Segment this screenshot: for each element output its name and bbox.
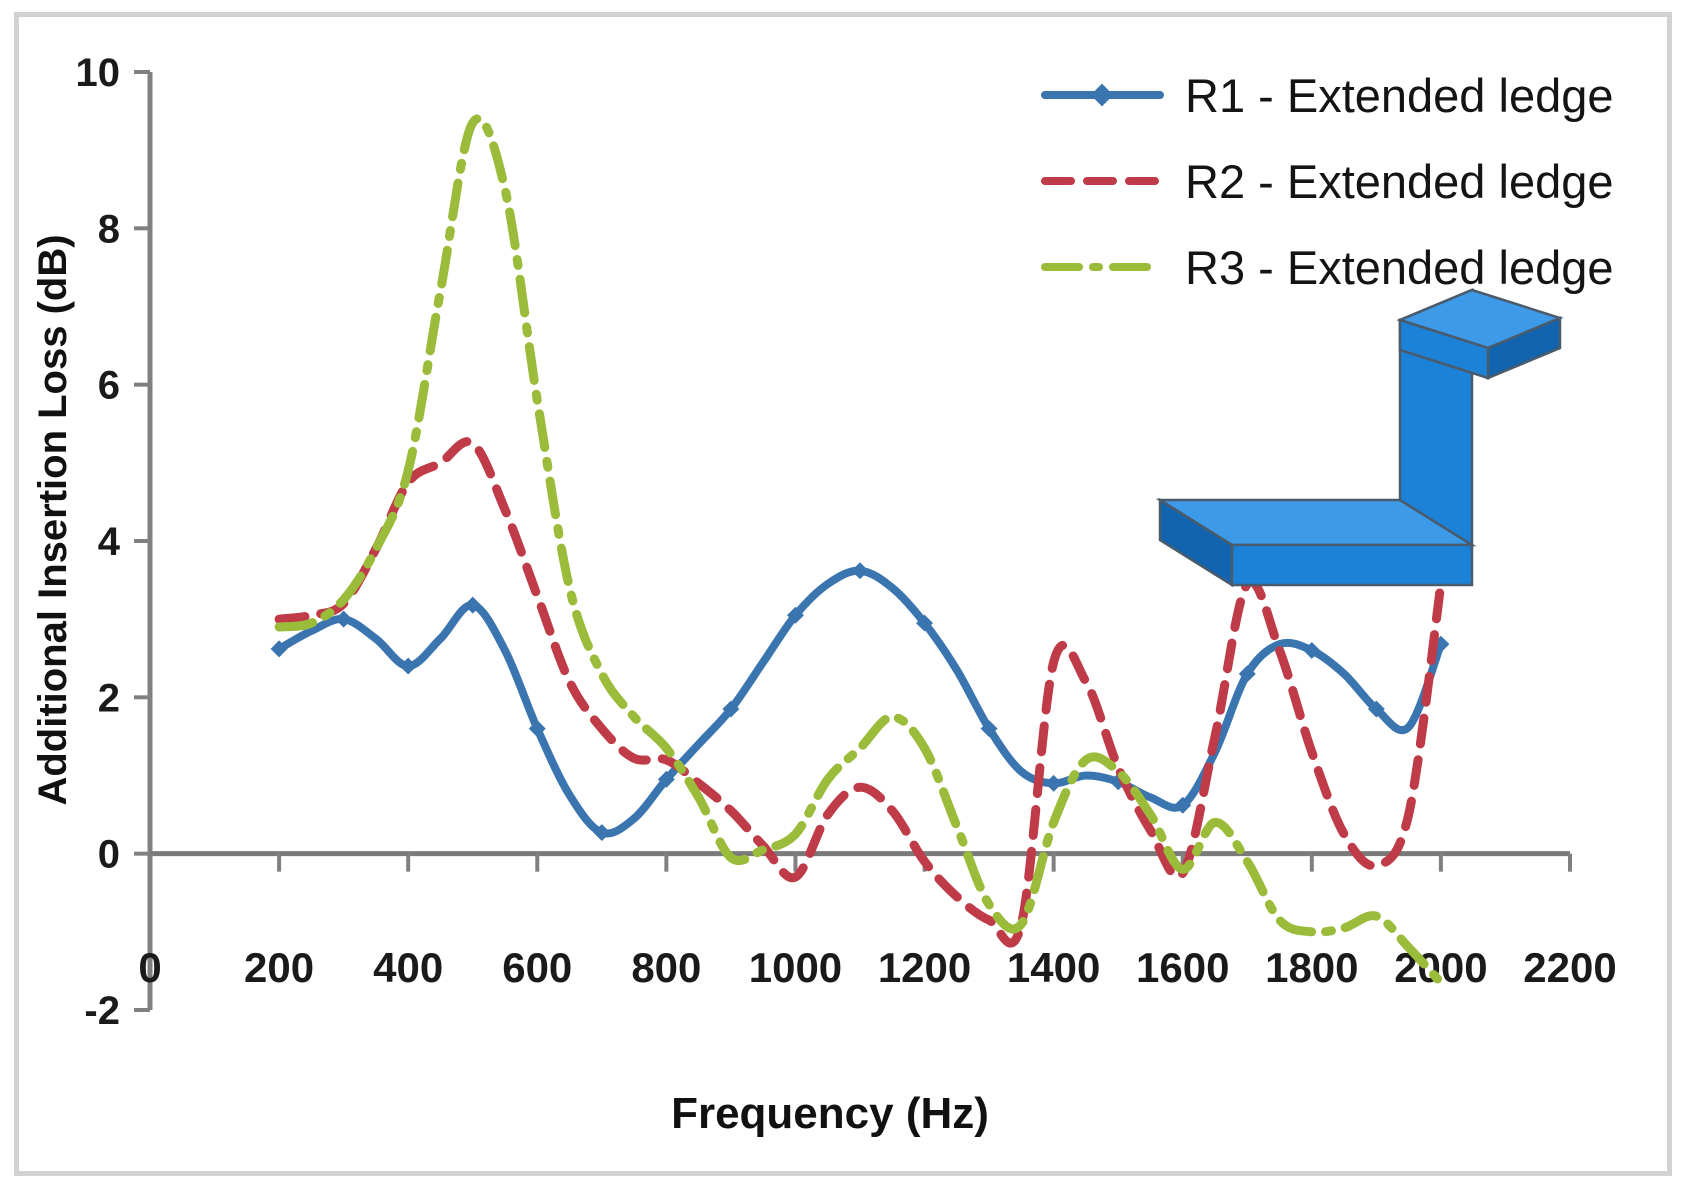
figure-page: 0200400600800100012001400160018002000220…: [0, 0, 1686, 1189]
x-tick-label: 200: [244, 944, 314, 991]
legend-label: R3 - Extended ledge: [1185, 241, 1614, 294]
chart-legend: R1 - Extended ledgeR2 - Extended ledgeR3…: [1045, 69, 1614, 294]
x-tick-label: 800: [631, 944, 701, 991]
y-tick-label: 10: [76, 51, 121, 95]
x-tick-label: 2200: [1523, 944, 1616, 991]
legend-label: R2 - Extended ledge: [1185, 155, 1614, 208]
x-tick-label: 1800: [1265, 944, 1358, 991]
y-tick-label: 8: [98, 207, 120, 251]
x-tick-label: 1600: [1136, 944, 1229, 991]
y-tick-label: 0: [98, 833, 120, 877]
y-tick-label: 4: [98, 520, 121, 564]
y-tick-label: -2: [84, 989, 120, 1033]
y-tick-label: 2: [98, 676, 120, 720]
chart-plot-area: 0200400600800100012001400160018002000220…: [0, 0, 1686, 1189]
x-tick-label: 1200: [878, 944, 971, 991]
x-tick-label: 600: [502, 944, 572, 991]
x-tick-label: 0: [138, 944, 161, 991]
y-tick-label: 6: [98, 364, 120, 408]
insertion-loss-line-chart: 0200400600800100012001400160018002000220…: [0, 0, 1686, 1189]
y-axis-title: Additional Insertion Loss (dB): [31, 234, 75, 805]
series-marker: [852, 562, 869, 579]
x-tick-label: 1400: [1007, 944, 1100, 991]
x-tick-label: 1000: [749, 944, 842, 991]
legend-label: R1 - Extended ledge: [1185, 69, 1614, 122]
x-axis-title: Frequency (Hz): [671, 1089, 989, 1138]
extended-ledge-beam-graphic: [1160, 290, 1560, 585]
legend-item-3[interactable]: R3 - Extended ledge: [1045, 241, 1614, 294]
beam-ledge-front: [1232, 545, 1472, 585]
series-marker: [1045, 775, 1062, 792]
x-axis-ticks: 0200400600800100012001400160018002000220…: [138, 854, 1616, 991]
legend-item-1[interactable]: R1 - Extended ledge: [1045, 69, 1614, 122]
x-tick-label: 400: [373, 944, 443, 991]
legend-item-2[interactable]: R2 - Extended ledge: [1045, 155, 1614, 208]
y-axis-ticks: -20246810: [76, 51, 151, 1033]
series-1: [271, 562, 1450, 841]
legend-swatch-marker: [1091, 84, 1114, 107]
